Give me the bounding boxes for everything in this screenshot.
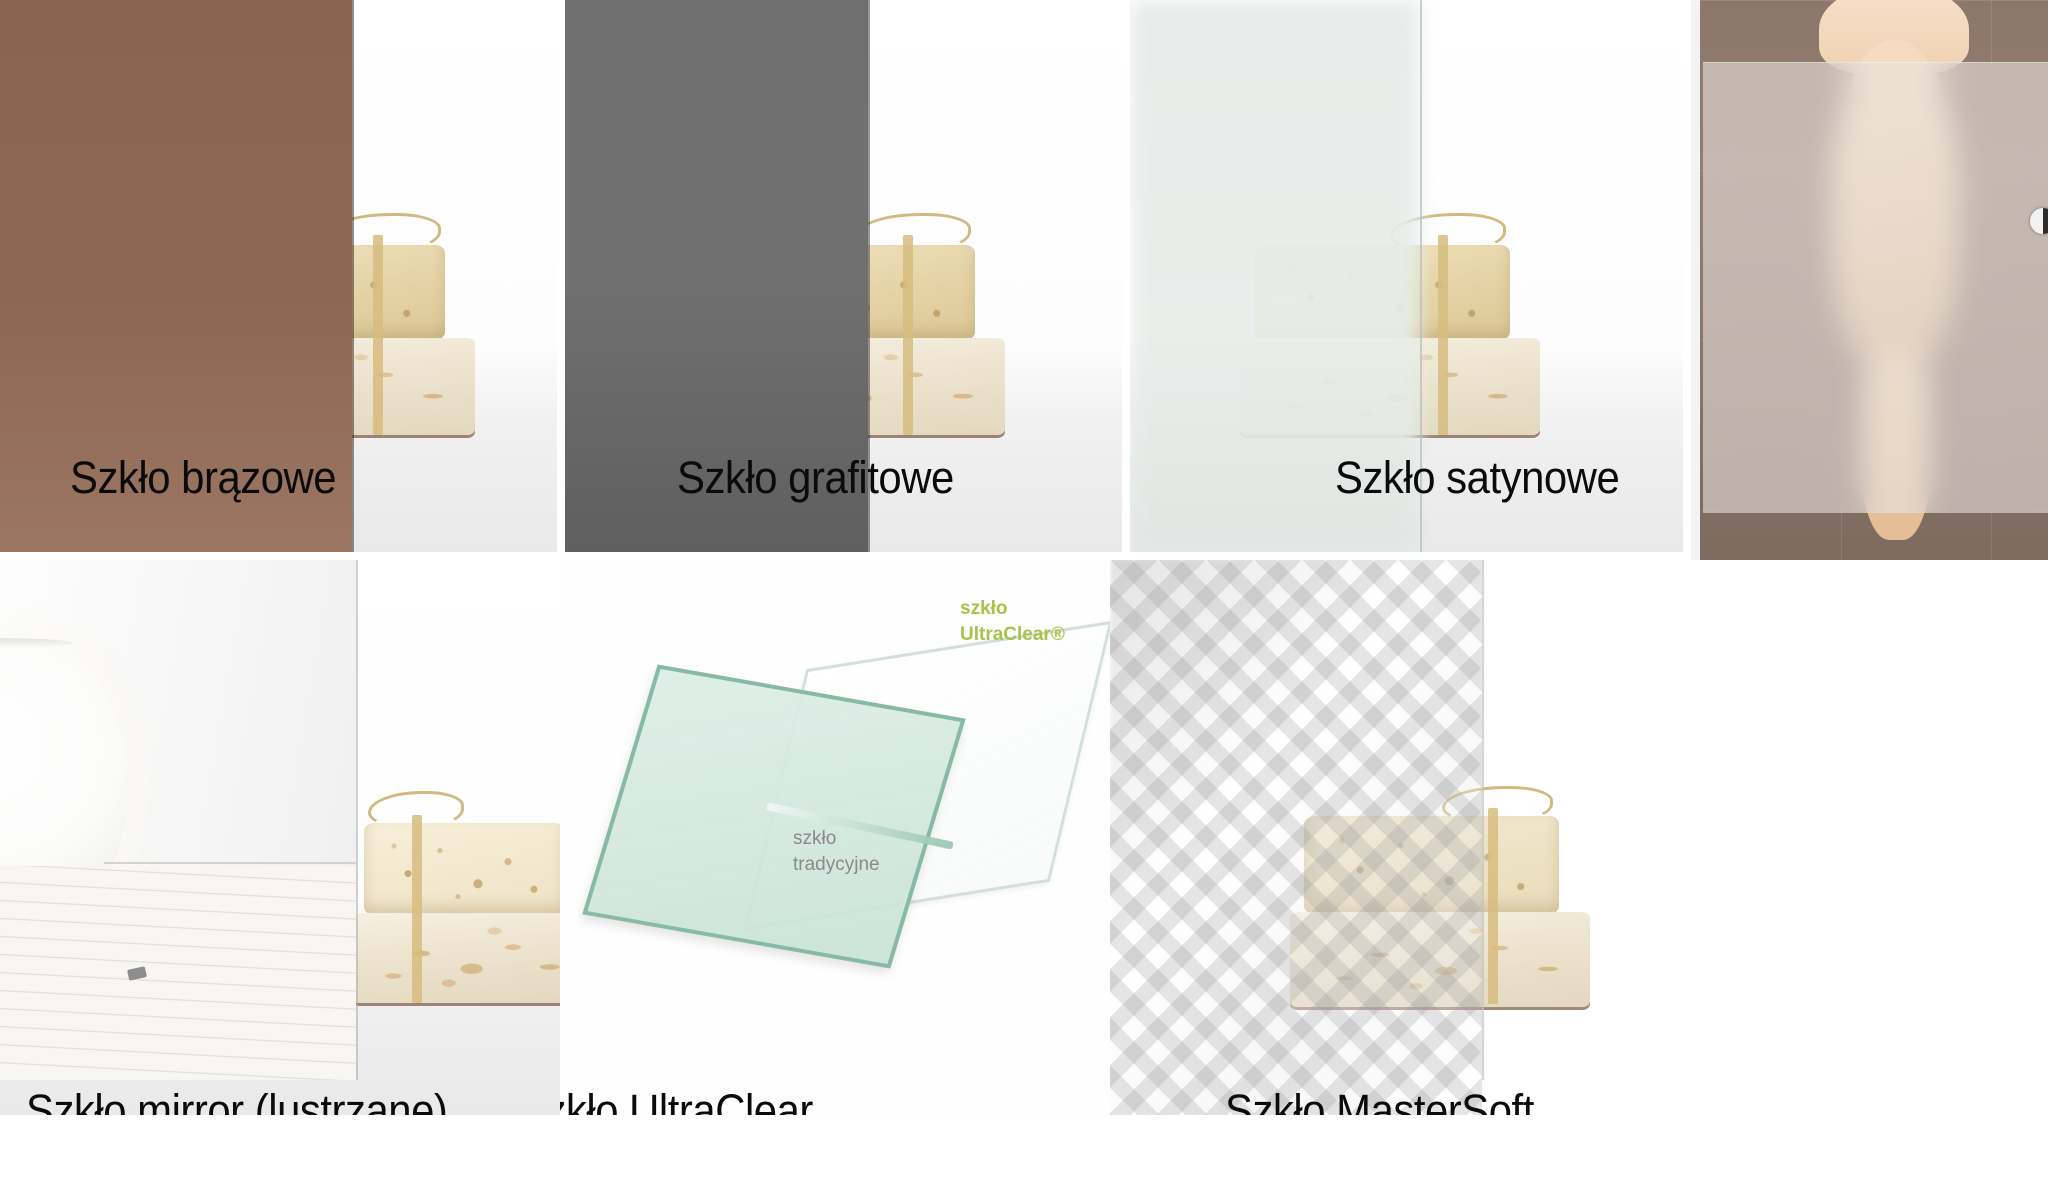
label-mirror-glass: Szkło mirror (lustrzane) (26, 1085, 447, 1115)
panel-intimato-glass[interactable]: Szkło intimato (1691, 0, 2048, 560)
wall-floor-line (104, 862, 356, 864)
twine-vertical (412, 815, 422, 1003)
mastersoft-glass-edge (1482, 560, 1484, 1080)
panel-mastersoft-glass[interactable]: Szkło MasterSoft (1110, 560, 1683, 1115)
soap-stack (352, 815, 560, 1010)
soap-bar-top (364, 823, 560, 915)
frosted-glass-screen (1703, 62, 2048, 513)
mirror-edge (356, 560, 358, 1080)
panel-ultraclear-glass[interactable]: szkło UltraClear® szkło tradycyjne Szkło… (560, 560, 1120, 1115)
annotation-traditional-line1: szkło (793, 826, 880, 852)
twine-vertical (1438, 235, 1448, 435)
panel-mirror-glass[interactable]: Szkło mirror (lustrzane) (0, 560, 560, 1115)
mirror-scene (0, 560, 560, 1115)
annotation-traditional-line2: tradycyjne (793, 852, 880, 878)
label-ultraclear-glass: Szkło UltraClear (560, 1085, 813, 1115)
panel-left-edge (1691, 0, 1700, 560)
twine-vertical (1488, 808, 1498, 1004)
brown-glass-edge (352, 0, 354, 552)
diamond-texture (1110, 560, 1482, 1115)
annotation-ultraclear-line1: szkło (960, 596, 1065, 622)
label-satin-glass: Szkło satynowe (1335, 452, 1619, 504)
panel-graphite-glass[interactable]: Szkło grafitowe (565, 0, 1122, 552)
label-graphite-glass: Szkło grafitowe (677, 452, 954, 504)
twine-vertical (903, 235, 913, 435)
label-brown-glass: Szkło brązowe (70, 452, 336, 504)
glass-types-gallery: Szkło brązowe Szkło grafitowe (0, 0, 2048, 1204)
panel-satin-glass[interactable]: Szkło satynowe (1130, 0, 1683, 552)
twine-vertical (373, 235, 383, 435)
annotation-ultraclear: szkło UltraClear® (960, 596, 1065, 647)
floor-slats (0, 866, 356, 1080)
annotation-ultraclear-line2: UltraClear® (960, 622, 1065, 648)
annotation-traditional: szkło tradycyjne (793, 826, 880, 877)
panel-brown-glass[interactable]: Szkło brązowe (0, 0, 557, 552)
soap-bar-bottom (352, 913, 560, 1003)
label-mastersoft-glass: Szkło MasterSoft (1225, 1085, 1534, 1115)
